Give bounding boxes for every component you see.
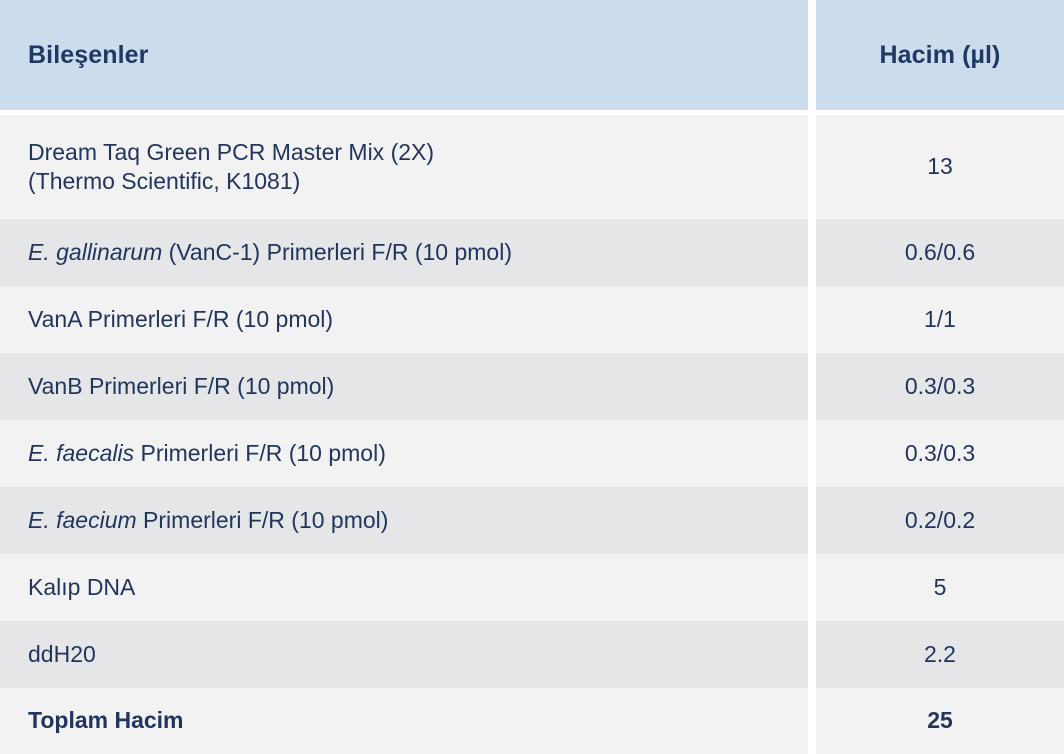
component-text: ddH20 <box>28 641 96 667</box>
cell-component: Dream Taq Green PCR Master Mix (2X) (The… <box>0 115 808 219</box>
cell-component: VanB Primerleri F/R (10 pmol) <box>0 353 808 420</box>
cell-component: E. faecalis Primerleri F/R (10 pmol) <box>0 420 808 487</box>
table-header: Bileşenler Hacim (µl) <box>0 0 1064 110</box>
cell-volume: 0.3/0.3 <box>816 353 1064 420</box>
cell-volume: 1/1 <box>816 286 1064 353</box>
species-name-italic: E. faecium <box>28 507 137 533</box>
component-text: Primerleri F/R (10 pmol) <box>137 507 389 533</box>
component-text: VanA Primerleri F/R (10 pmol) <box>28 306 333 332</box>
cell-volume-total: 25 <box>816 688 1064 754</box>
cell-divider <box>808 688 816 754</box>
component-line-2: (Thermo Scientific, K1081) <box>28 167 808 196</box>
column-divider <box>808 0 816 110</box>
table-row: Dream Taq Green PCR Master Mix (2X) (The… <box>0 115 1064 219</box>
cell-volume: 0.3/0.3 <box>816 420 1064 487</box>
cell-component: E. faecium Primerleri F/R (10 pmol) <box>0 487 808 554</box>
cell-divider <box>808 286 816 353</box>
cell-volume: 13 <box>816 115 1064 219</box>
component-text: (VanC-1) Primerleri F/R (10 pmol) <box>162 239 512 265</box>
component-text: Kalıp DNA <box>28 574 135 600</box>
cell-component: VanA Primerleri F/R (10 pmol) <box>0 286 808 353</box>
component-text: Toplam Hacim <box>28 707 184 733</box>
component-text: VanB Primerleri F/R (10 pmol) <box>28 373 334 399</box>
table-header-row: Bileşenler Hacim (µl) <box>0 0 1064 110</box>
pcr-reaction-mix-table-container: Bileşenler Hacim (µl) Dream Taq Green PC… <box>0 0 1064 753</box>
cell-component: ddH20 <box>0 621 808 688</box>
pcr-reaction-mix-table: Bileşenler Hacim (µl) Dream Taq Green PC… <box>0 0 1064 754</box>
table-row: VanB Primerleri F/R (10 pmol) 0.3/0.3 <box>0 353 1064 420</box>
table-row: E. gallinarum (VanC-1) Primerleri F/R (1… <box>0 219 1064 286</box>
table-body: Dream Taq Green PCR Master Mix (2X) (The… <box>0 110 1064 754</box>
component-text: Primerleri F/R (10 pmol) <box>134 440 386 466</box>
table-row: Kalıp DNA 5 <box>0 554 1064 621</box>
cell-divider <box>808 115 816 219</box>
table-row-total: Toplam Hacim 25 <box>0 688 1064 754</box>
cell-divider <box>808 219 816 286</box>
cell-component-total: Toplam Hacim <box>0 688 808 754</box>
table-row: VanA Primerleri F/R (10 pmol) 1/1 <box>0 286 1064 353</box>
table-row: E. faecalis Primerleri F/R (10 pmol) 0.3… <box>0 420 1064 487</box>
species-name-italic: E. gallinarum <box>28 239 162 265</box>
cell-divider <box>808 621 816 688</box>
table-row: ddH20 2.2 <box>0 621 1064 688</box>
cell-volume: 5 <box>816 554 1064 621</box>
cell-volume: 0.2/0.2 <box>816 487 1064 554</box>
cell-component: Kalıp DNA <box>0 554 808 621</box>
cell-divider <box>808 420 816 487</box>
species-name-italic: E. faecalis <box>28 440 134 466</box>
cell-divider <box>808 353 816 420</box>
cell-component: E. gallinarum (VanC-1) Primerleri F/R (1… <box>0 219 808 286</box>
column-header-volume: Hacim (µl) <box>816 0 1064 110</box>
table-row: E. faecium Primerleri F/R (10 pmol) 0.2/… <box>0 487 1064 554</box>
component-line-1: Dream Taq Green PCR Master Mix (2X) <box>28 138 808 167</box>
cell-divider <box>808 487 816 554</box>
cell-volume: 0.6/0.6 <box>816 219 1064 286</box>
cell-volume: 2.2 <box>816 621 1064 688</box>
column-header-components: Bileşenler <box>0 0 808 110</box>
cell-divider <box>808 554 816 621</box>
